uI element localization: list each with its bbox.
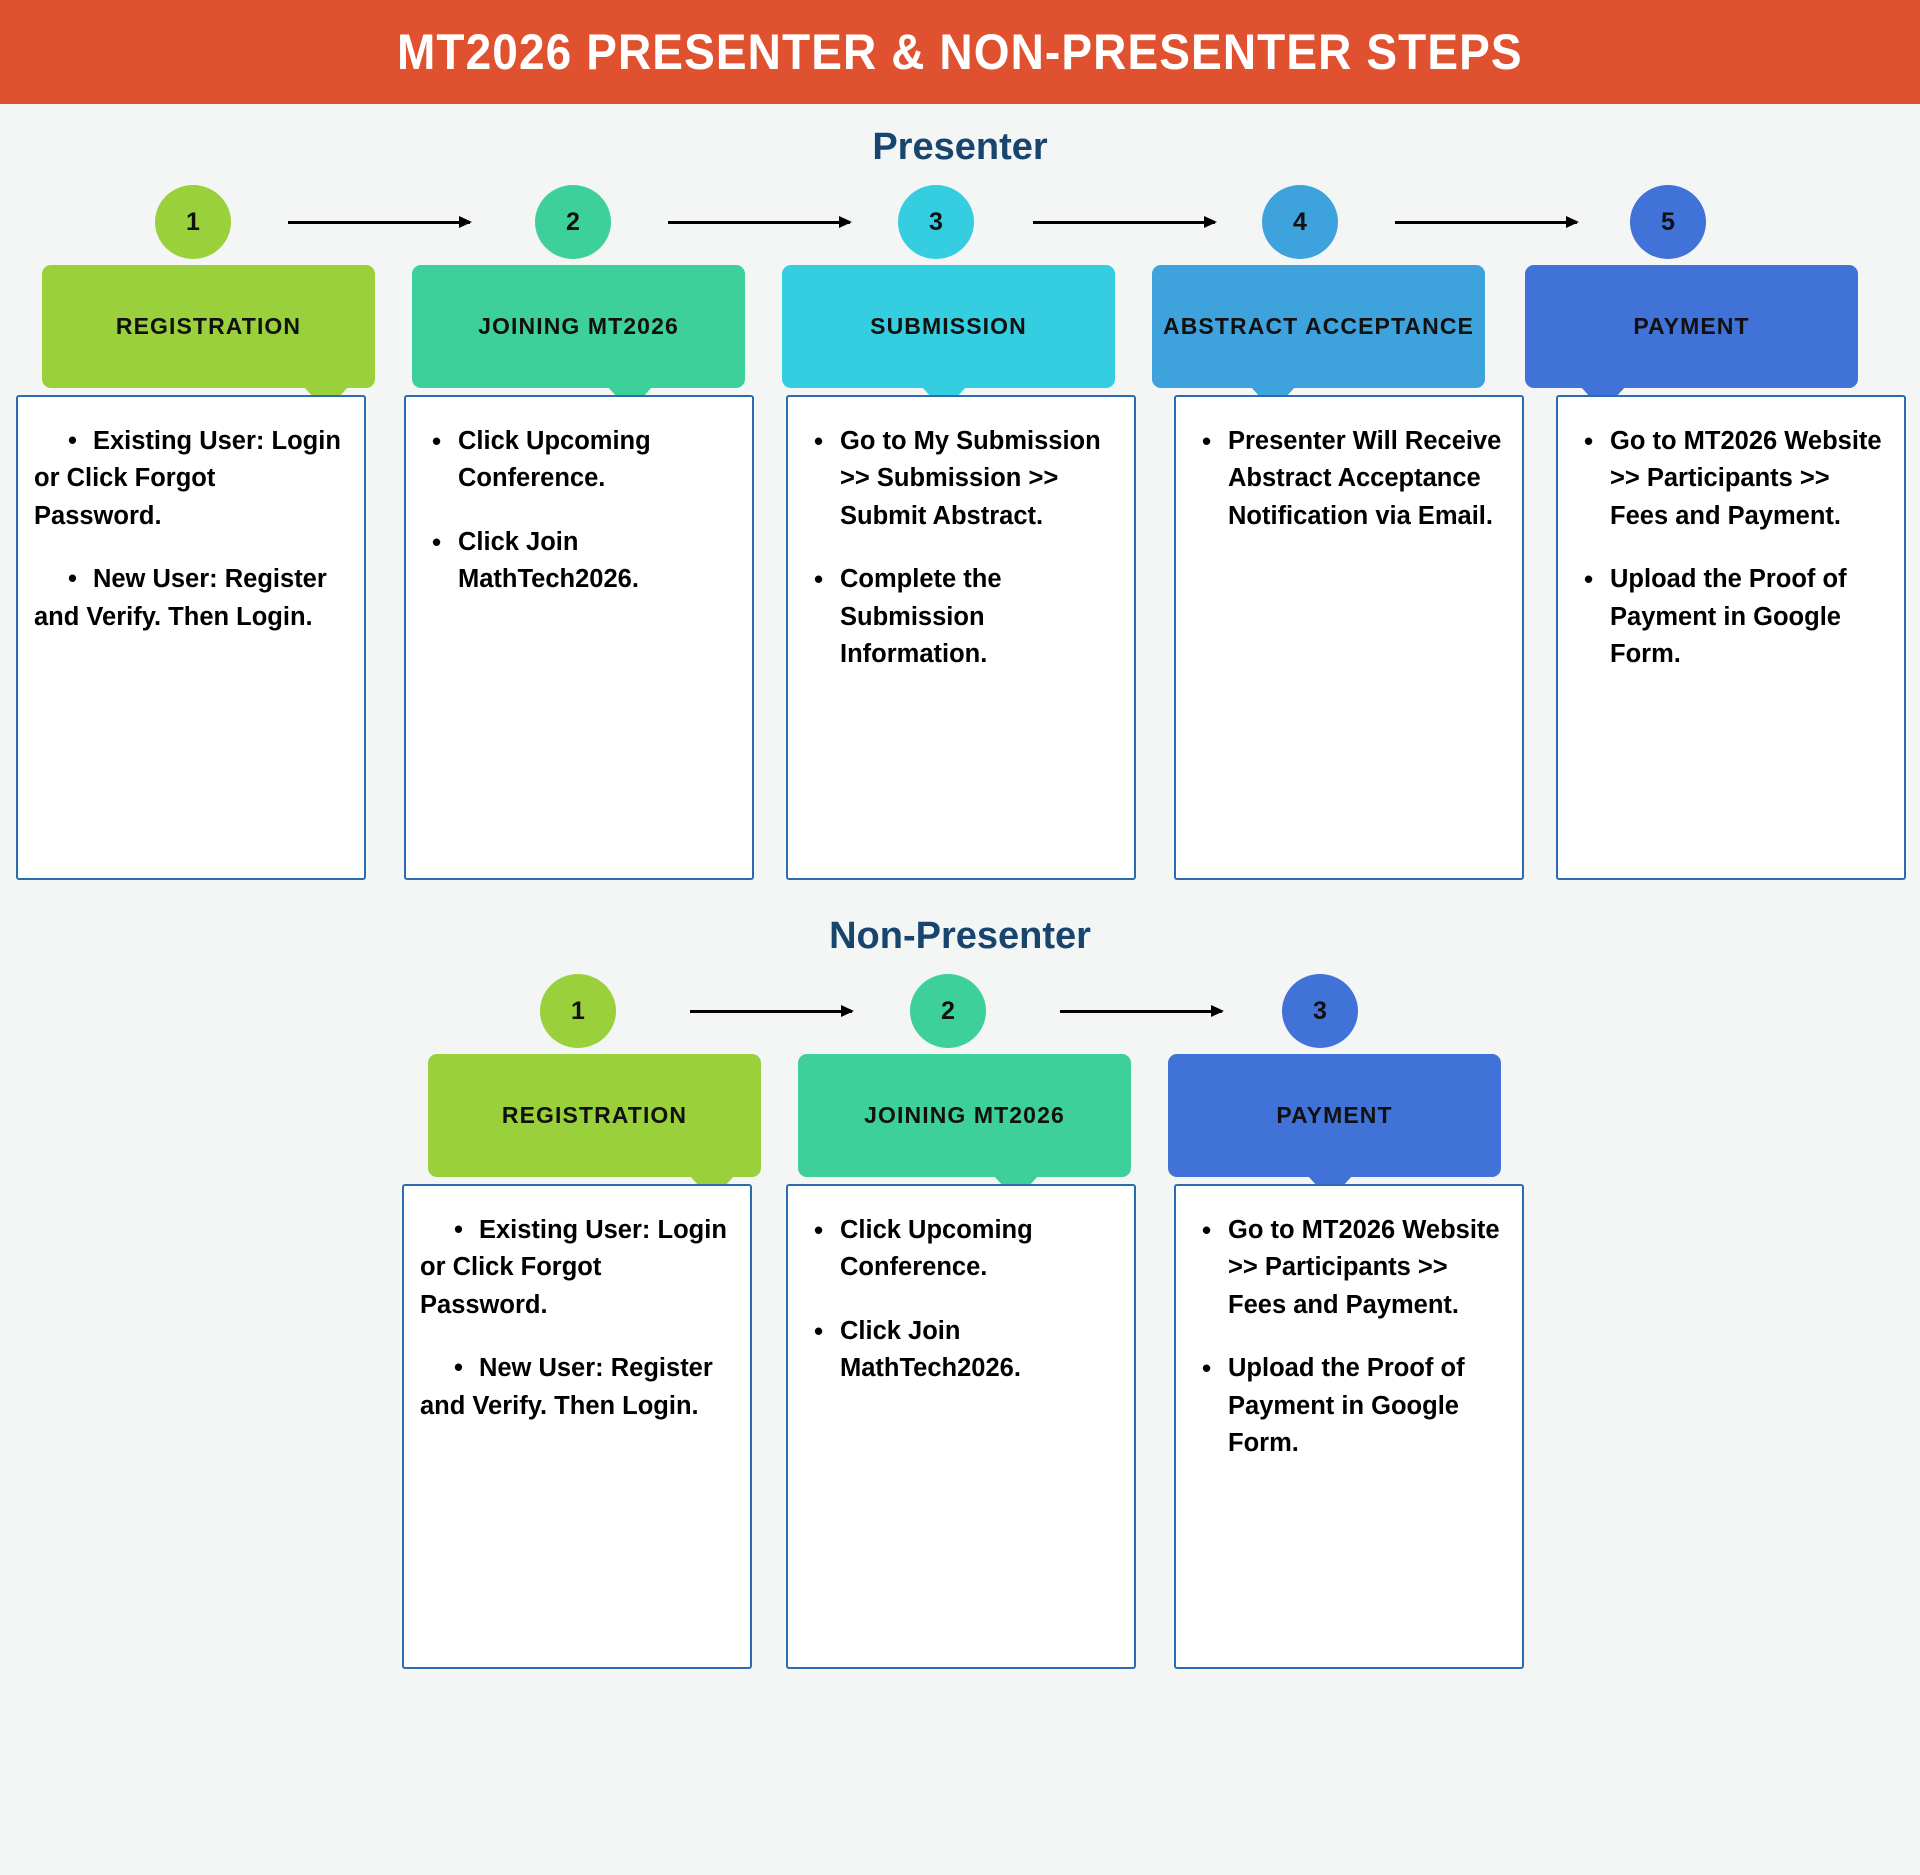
step-tile-payment[interactable]: PAYMENT	[1525, 265, 1858, 388]
section-title-presenter: Presenter	[0, 126, 1920, 169]
list-item: Go to My Submission >> Submission >> Sub…	[804, 423, 1118, 535]
step-circle-2[interactable]: 2	[535, 185, 611, 259]
detail-card-payment: Go to MT2026 Website >> Participants >> …	[1556, 395, 1906, 880]
step-circle-4[interactable]: 4	[1262, 185, 1338, 259]
bullet-marker: •	[34, 561, 93, 598]
bullet-list: Go to MT2026 Website >> Participants >> …	[1574, 423, 1888, 674]
step-number-label: 3	[929, 208, 943, 237]
list-item: Upload the Proof of Payment in Google Fo…	[1192, 1350, 1506, 1462]
step-number-label: 4	[1293, 208, 1307, 237]
flow-arrow-2	[1060, 1010, 1222, 1013]
list-item: •New User: Register and Verify. Then Log…	[34, 561, 348, 636]
list-item: •New User: Register and Verify. Then Log…	[420, 1350, 734, 1425]
bullet-list: •Existing User: Login or Click Forgot Pa…	[34, 423, 348, 636]
list-item: Click Join MathTech2026.	[422, 524, 736, 599]
step-number-label: 5	[1661, 208, 1675, 237]
step-number-label: 2	[941, 997, 955, 1026]
step-circle-1[interactable]: 1	[155, 185, 231, 259]
list-item: Go to MT2026 Website >> Participants >> …	[1192, 1212, 1506, 1324]
step-tile-label: REGISTRATION	[492, 1100, 697, 1131]
bullet-marker: •	[34, 423, 93, 460]
step-tile-label: JOINING MT2026	[468, 311, 689, 342]
bullet-lead: New User:	[93, 565, 218, 593]
step-tile-label: SUBMISSION	[860, 311, 1037, 342]
flow-arrow-1	[690, 1010, 852, 1013]
bullet-list: Go to MT2026 Website >> Participants >> …	[1192, 1212, 1506, 1463]
step-number-label: 1	[186, 208, 200, 237]
nonpresenter-step-indicators: 1 2 3	[0, 974, 1920, 1054]
detail-card-abstract-acceptance: Presenter Will Receive Abstract Acceptan…	[1174, 395, 1524, 880]
step-circle-2[interactable]: 2	[910, 974, 986, 1048]
step-circle-1[interactable]: 1	[540, 974, 616, 1048]
detail-card-registration: •Existing User: Login or Click Forgot Pa…	[402, 1184, 752, 1669]
flow-arrow-2	[668, 221, 850, 224]
step-tile-label: PAYMENT	[1623, 311, 1759, 342]
bullet-lead: New User:	[479, 1354, 604, 1382]
nonpresenter-step-tiles: REGISTRATION JOINING MT2026 PAYMENT	[0, 1054, 1920, 1184]
list-item: Presenter Will Receive Abstract Acceptan…	[1192, 423, 1506, 535]
bullet-list: Presenter Will Receive Abstract Acceptan…	[1192, 423, 1506, 535]
step-number-label: 3	[1313, 997, 1327, 1026]
step-tile-joining[interactable]: JOINING MT2026	[412, 265, 745, 388]
step-tile-label: REGISTRATION	[106, 311, 311, 342]
presenter-flow: 1 2 3 4 5 REGISTRATION JOINING MT2026	[0, 185, 1920, 805]
list-item: Click Upcoming Conference.	[422, 423, 736, 498]
flow-arrow-1	[288, 221, 470, 224]
detail-card-submission: Go to My Submission >> Submission >> Sub…	[786, 395, 1136, 880]
step-circle-5[interactable]: 5	[1630, 185, 1706, 259]
list-item: Go to MT2026 Website >> Participants >> …	[1574, 423, 1888, 535]
detail-card-payment: Go to MT2026 Website >> Participants >> …	[1174, 1184, 1524, 1669]
section-title-nonpresenter: Non-Presenter	[0, 915, 1920, 958]
step-tile-abstract-acceptance[interactable]: ABSTRACT ACCEPTANCE	[1152, 265, 1485, 388]
nonpresenter-detail-cards: •Existing User: Login or Click Forgot Pa…	[0, 1184, 1920, 1594]
step-tile-submission[interactable]: SUBMISSION	[782, 265, 1115, 388]
list-item: •Existing User: Login or Click Forgot Pa…	[420, 1212, 734, 1324]
list-item: Click Join MathTech2026.	[804, 1313, 1118, 1388]
bullet-list: Go to My Submission >> Submission >> Sub…	[804, 423, 1118, 674]
step-number-label: 2	[566, 208, 580, 237]
bullet-list: Click Upcoming Conference. Click Join Ma…	[804, 1212, 1118, 1388]
bullet-marker: •	[420, 1350, 479, 1387]
step-tile-registration[interactable]: REGISTRATION	[42, 265, 375, 388]
detail-card-registration: •Existing User: Login or Click Forgot Pa…	[16, 395, 366, 880]
list-item: Upload the Proof of Payment in Google Fo…	[1574, 561, 1888, 673]
page-title: MT2026 PRESENTER & NON-PRESENTER STEPS	[397, 23, 1523, 81]
step-number-label: 1	[571, 997, 585, 1026]
bullet-list: Click Upcoming Conference. Click Join Ma…	[422, 423, 736, 599]
step-tile-payment[interactable]: PAYMENT	[1168, 1054, 1501, 1177]
flow-arrow-4	[1395, 221, 1577, 224]
list-item: •Existing User: Login or Click Forgot Pa…	[34, 423, 348, 535]
step-tile-label: PAYMENT	[1266, 1100, 1402, 1131]
list-item: Click Upcoming Conference.	[804, 1212, 1118, 1287]
detail-card-joining: Click Upcoming Conference. Click Join Ma…	[786, 1184, 1136, 1669]
step-tile-label: JOINING MT2026	[854, 1100, 1075, 1131]
flow-arrow-3	[1033, 221, 1215, 224]
presenter-step-indicators: 1 2 3 4 5	[0, 185, 1920, 265]
bullet-list: •Existing User: Login or Click Forgot Pa…	[420, 1212, 734, 1425]
bullet-marker: •	[420, 1212, 479, 1249]
bullet-lead: Existing User:	[479, 1216, 650, 1244]
presenter-detail-cards: •Existing User: Login or Click Forgot Pa…	[0, 395, 1920, 805]
step-tile-joining[interactable]: JOINING MT2026	[798, 1054, 1131, 1177]
step-circle-3[interactable]: 3	[1282, 974, 1358, 1048]
bullet-lead: Existing User:	[93, 427, 264, 455]
step-tile-label: ABSTRACT ACCEPTANCE	[1153, 311, 1484, 342]
nonpresenter-flow: 1 2 3 REGISTRATION JOINING MT2026 PAYMEN…	[0, 974, 1920, 1594]
page-header-banner: MT2026 PRESENTER & NON-PRESENTER STEPS	[0, 0, 1920, 104]
step-circle-3[interactable]: 3	[898, 185, 974, 259]
step-tile-registration[interactable]: REGISTRATION	[428, 1054, 761, 1177]
presenter-step-tiles: REGISTRATION JOINING MT2026 SUBMISSION A…	[0, 265, 1920, 395]
detail-card-joining: Click Upcoming Conference. Click Join Ma…	[404, 395, 754, 880]
list-item: Complete the Submission Information.	[804, 561, 1118, 673]
